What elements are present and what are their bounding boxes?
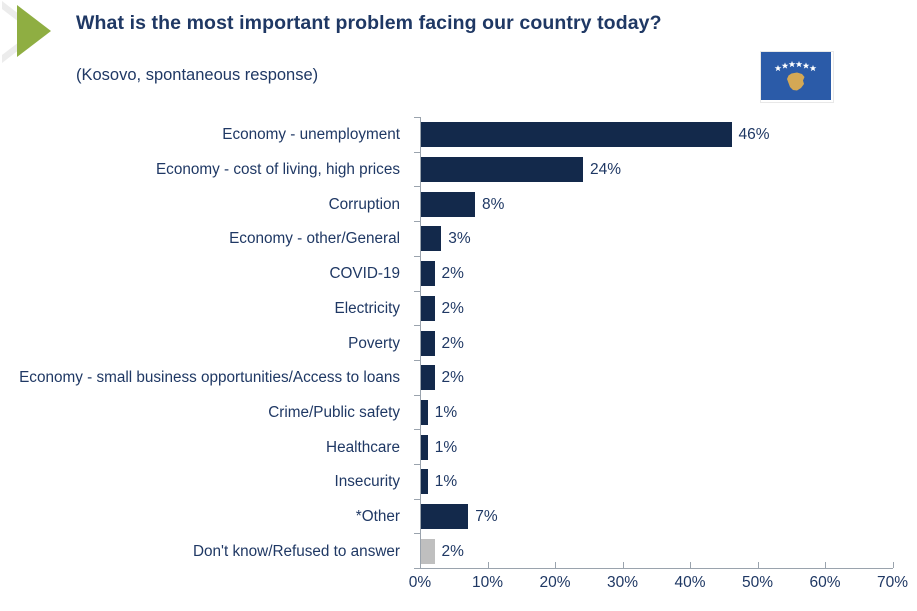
bar-value-label: 1%: [435, 439, 457, 457]
y-axis-tick: [414, 499, 420, 500]
category-label: Insecurity: [0, 473, 410, 491]
category-label: Economy - unemployment: [0, 126, 410, 144]
bar-value-label: 2%: [442, 369, 464, 387]
category-label: Electricity: [0, 300, 410, 318]
chart-bar[interactable]: [421, 539, 435, 564]
bar-value-label: 2%: [442, 543, 464, 561]
category-label: Economy - cost of living, high prices: [0, 161, 410, 179]
x-axis-tick-label: 60%: [809, 574, 840, 592]
category-label: Poverty: [0, 335, 410, 353]
chart-bar[interactable]: [421, 296, 435, 321]
category-label: Corruption: [0, 196, 410, 214]
chart-bar[interactable]: [421, 331, 435, 356]
x-axis-tick: [623, 562, 624, 568]
x-axis-tick: [758, 562, 759, 568]
chart-bar[interactable]: [421, 122, 732, 147]
bar-value-label: 2%: [442, 335, 464, 353]
bar-value-label: 2%: [442, 265, 464, 283]
x-axis-tick-label: 10%: [472, 574, 503, 592]
x-axis-tick: [488, 562, 489, 568]
category-label: Crime/Public safety: [0, 404, 410, 422]
x-axis-tick-label: 30%: [607, 574, 638, 592]
y-axis-tick: [414, 395, 420, 396]
y-axis-tick: [414, 152, 420, 153]
x-axis-tick: [555, 562, 556, 568]
chart-bar[interactable]: [421, 400, 428, 425]
x-axis-tick: [690, 562, 691, 568]
bar-value-label: 1%: [435, 404, 457, 422]
y-axis-tick: [414, 429, 420, 430]
y-axis-tick: [414, 117, 420, 118]
y-axis-tick: [414, 291, 420, 292]
bar-value-label: 7%: [475, 508, 497, 526]
x-axis-tick-label: 50%: [742, 574, 773, 592]
bar-value-label: 46%: [739, 126, 770, 144]
x-axis-tick-label: 70%: [877, 574, 908, 592]
y-axis-tick: [414, 533, 420, 534]
chart-bar[interactable]: [421, 157, 583, 182]
x-axis-line: [420, 568, 893, 569]
chart-bar[interactable]: [421, 469, 428, 494]
category-label: Healthcare: [0, 439, 410, 457]
bar-value-label: 24%: [590, 161, 621, 179]
chart-bar[interactable]: [421, 365, 435, 390]
category-label: COVID-19: [0, 265, 410, 283]
category-label: Economy - small business opportunities/A…: [0, 369, 410, 387]
category-label: Don't know/Refused to answer: [0, 543, 410, 561]
category-label: *Other: [0, 508, 410, 526]
bar-value-label: 8%: [482, 196, 504, 214]
y-axis-tick: [414, 256, 420, 257]
chart-bar[interactable]: [421, 192, 475, 217]
chart-bar[interactable]: [421, 504, 468, 529]
bar-value-label: 1%: [435, 473, 457, 491]
bar-chart: 0%10%20%30%40%50%60%70%Economy - unemplo…: [0, 0, 917, 611]
x-axis-tick-label: 0%: [409, 574, 431, 592]
bar-value-label: 3%: [448, 230, 470, 248]
y-axis-tick: [414, 464, 420, 465]
y-axis-tick: [414, 186, 420, 187]
category-label: Economy - other/General: [0, 230, 410, 248]
chart-bar[interactable]: [421, 226, 441, 251]
y-axis-tick: [414, 325, 420, 326]
x-axis-tick: [825, 562, 826, 568]
chart-bar[interactable]: [421, 261, 435, 286]
x-axis-tick-label: 20%: [539, 574, 570, 592]
x-axis-tick: [893, 562, 894, 568]
chart-bar[interactable]: [421, 435, 428, 460]
y-axis-tick: [414, 360, 420, 361]
x-axis-tick-label: 40%: [674, 574, 705, 592]
y-axis-tick: [414, 568, 420, 569]
bar-value-label: 2%: [442, 300, 464, 318]
y-axis-tick: [414, 221, 420, 222]
